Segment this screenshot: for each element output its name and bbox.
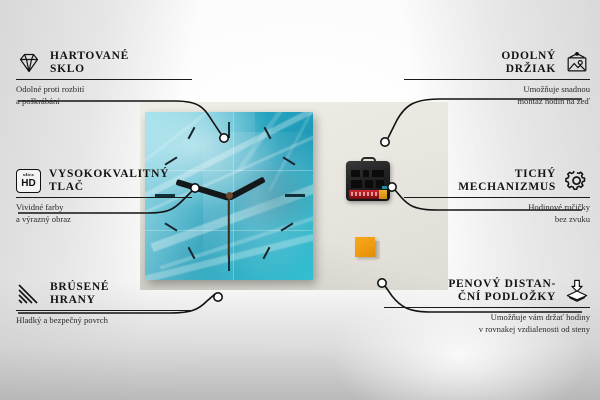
feature-divider — [404, 79, 590, 80]
mechanism-housing — [346, 161, 390, 201]
feature-title-line: ČNÍ PODLOŽKY — [448, 291, 556, 304]
hanging-picture-frame-icon — [564, 51, 590, 75]
feature-titles: PENOVÝ DISTAN- ČNÍ PODLOŽKY — [448, 278, 556, 304]
feature-silent-mechanism: TICHÝ MECHANIZMUS Hodinové ručičky bez z… — [404, 168, 590, 225]
clock-marker-3 — [285, 194, 305, 197]
feature-desc-line: montáž hodin na zeď — [517, 95, 590, 107]
feature-desc-line: Hodinové ručičky — [528, 201, 590, 213]
feature-desc-line: Umožňuje vám držať hodiny — [491, 311, 590, 323]
feature-header: ODOLNÝ DRŽIAK — [501, 50, 590, 76]
battery-label — [351, 192, 379, 196]
feature-header: HARTOVANÉ SKLO — [16, 50, 192, 76]
feature-titles: HARTOVANÉ SKLO — [50, 50, 129, 76]
mechanism-detail — [351, 180, 362, 188]
stacked-layers-arrow-icon — [564, 279, 590, 303]
feature-title-line: HRANY — [50, 294, 109, 307]
feature-titles: BRÚSENÉ HRANY — [50, 281, 109, 307]
feature-title-line: TICHÝ — [458, 168, 556, 181]
feature-desc-line: v rovnakej vzdialenosti od steny — [479, 323, 590, 335]
feature-divider — [16, 79, 192, 80]
feature-desc-line: a poškrábání — [16, 95, 192, 107]
gear-icon — [564, 169, 590, 193]
feature-divider — [404, 197, 590, 198]
mechanism-detail — [365, 180, 373, 188]
feature-titles: VYSOKOKVALITNÝ TLAČ — [49, 168, 169, 194]
feature-durable-holder: ODOLNÝ DRŽIAK Umožňuje snadnou montáž ho… — [404, 50, 590, 107]
feature-desc-line: Vividné farby — [16, 201, 192, 213]
clock-center-pivot — [226, 192, 233, 199]
clock-marker-12 — [228, 122, 230, 138]
feature-title-line: SKLO — [50, 63, 129, 76]
feature-title-line: MECHANIZMUS — [458, 181, 556, 194]
ultra-hd-icon-main-text: HD — [21, 179, 35, 189]
feature-high-quality-print: ultra HD VYSOKOKVALITNÝ TLAČ Vividné far… — [16, 168, 192, 225]
feature-title-line: HARTOVANÉ — [50, 50, 129, 63]
feature-desc-line: a výrazný obraz — [16, 213, 192, 225]
infographic-canvas: HARTOVANÉ SKLO Odolné proti rozbití a po… — [0, 0, 600, 400]
mechanism-detail — [363, 170, 369, 177]
feature-header: TICHÝ MECHANIZMUS — [458, 168, 590, 194]
mechanism-detail — [372, 170, 384, 177]
feature-divider — [384, 307, 590, 308]
feature-divider — [16, 197, 192, 198]
feature-tempered-glass: HARTOVANÉ SKLO Odolné proti rozbití a po… — [16, 50, 192, 107]
clock-mechanism — [346, 157, 390, 201]
foam-spacer-pad — [355, 237, 375, 257]
feature-title-line: DRŽIAK — [501, 63, 556, 76]
feature-foam-spacers: PENOVÝ DISTAN- ČNÍ PODLOŽKY Umožňuje vám… — [384, 278, 590, 335]
feature-desc-line: Hladký a bezpečný povrch — [16, 314, 192, 326]
feature-title-line: VYSOKOKVALITNÝ — [49, 168, 169, 181]
feature-header: BRÚSENÉ HRANY — [16, 281, 192, 307]
ultra-hd-icon: ultra HD — [16, 169, 41, 193]
feature-desc-line: Odolné proti rozbití — [16, 83, 192, 95]
mechanism-label — [382, 186, 388, 189]
hatched-triangle-icon — [16, 282, 42, 306]
foam-pad-shadow — [375, 241, 380, 259]
feature-title-line: BRÚSENÉ — [50, 281, 109, 294]
feature-header: PENOVÝ DISTAN- ČNÍ PODLOŽKY — [448, 278, 590, 304]
feature-desc-line: bez zvuku — [555, 213, 590, 225]
feature-title-line: TLAČ — [49, 181, 169, 194]
ultra-hd-icon-small-text: ultra — [23, 173, 34, 178]
feature-title-line: ODOLNÝ — [501, 50, 556, 63]
clock-second-hand — [228, 197, 230, 259]
feature-titles: TICHÝ MECHANIZMUS — [458, 168, 556, 194]
diamond-icon — [16, 51, 42, 75]
feature-divider — [16, 310, 192, 311]
mechanism-detail — [351, 170, 360, 177]
feature-title-line: PENOVÝ DISTAN- — [448, 278, 556, 291]
feature-desc-line: Umožňuje snadnou — [523, 83, 590, 95]
battery-terminal — [379, 190, 387, 199]
feature-titles: ODOLNÝ DRŽIAK — [501, 50, 556, 76]
feature-header: ultra HD VYSOKOKVALITNÝ TLAČ — [16, 168, 192, 194]
feature-ground-edges: BRÚSENÉ HRANY Hladký a bezpečný povrch — [16, 281, 192, 326]
